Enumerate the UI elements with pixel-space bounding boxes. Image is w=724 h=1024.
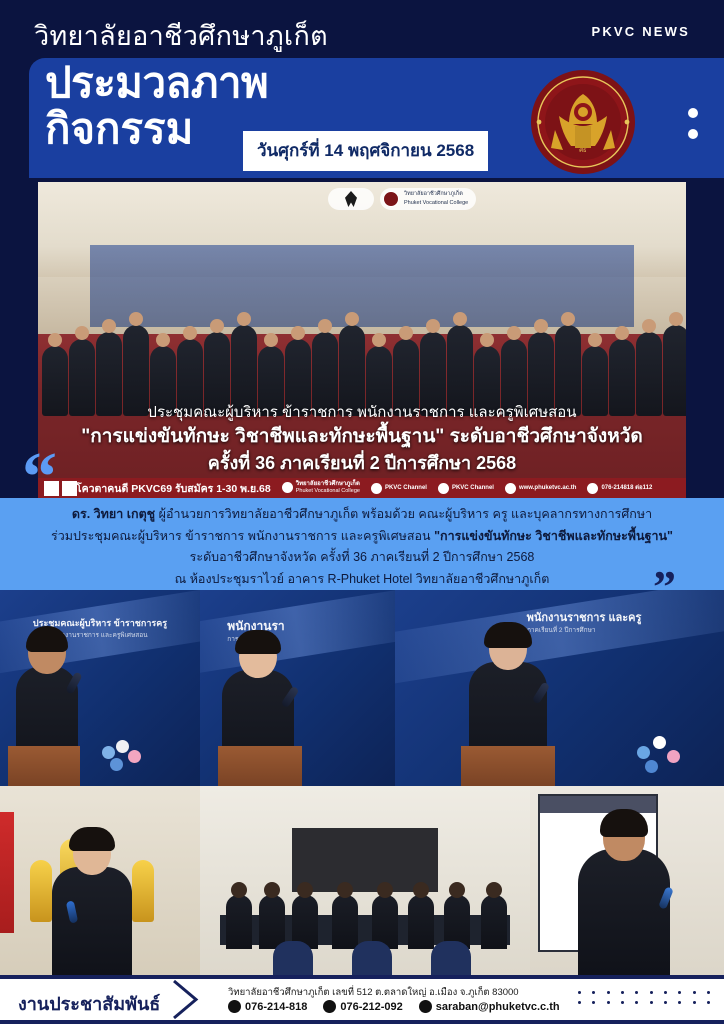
screen-sub-3: ภาคเรียนที่ 2 ปีการศึกษา xyxy=(527,626,724,636)
college-seal-icon xyxy=(383,191,399,207)
description-line-2: ร่วมประชุมคณะผู้บริหาร ข้าราชการ พนักงาน… xyxy=(0,526,724,548)
caption-line-2: "การแข่งขันทักษะ วิชาชีพและทักษะพื้นฐาน"… xyxy=(64,424,660,451)
thai-flag xyxy=(0,812,14,933)
watermark-thai: วิทยาลัยอาชีวศึกษาภูเก็ต xyxy=(404,191,463,197)
qr-code-2 xyxy=(62,481,77,496)
chevron-right-icon xyxy=(172,979,218,1020)
youtube-icon xyxy=(438,483,449,494)
event-name: "การแข่งขันทักษะ วิชาชีพและทักษะพื้นฐาน" xyxy=(434,529,673,543)
tiktok-label: PKVC Channel xyxy=(385,485,427,491)
dot-2 xyxy=(688,129,698,139)
social-tiktok[interactable]: PKVC Channel xyxy=(371,483,427,494)
footer-phone-value: 076-214-818 xyxy=(245,1001,307,1013)
website-icon xyxy=(505,483,516,494)
photo-speaker-masked-woman: พนักงานรา การแข่งขัน xyxy=(200,590,395,786)
gold-ornament-3 xyxy=(132,860,154,922)
speaker-figure xyxy=(52,867,132,975)
director-name: ดร. วิทยา เกตุชู xyxy=(72,507,155,521)
facebook-label-en: Phuket Vocational College xyxy=(296,488,360,494)
svg-text:ศธ: ศธ xyxy=(579,147,587,154)
phone-icon xyxy=(228,1000,241,1013)
youtube-label: PKVC Channel xyxy=(452,485,494,491)
description-line-3: ระดับอาชีวศึกษาจังหวัด ครั้งที่ 36 ภาคเร… xyxy=(0,547,724,569)
speaker-figure xyxy=(578,849,670,975)
fax-icon xyxy=(323,1000,336,1013)
photo-speaker-male-podium: ประชุมคณะผู้บริหาร ข้าราชการครู พนักงานร… xyxy=(0,590,200,786)
photo-speaker-woman-podium: พนักงานราชการ และครู ภาคเรียนที่ 2 ปีการ… xyxy=(395,590,724,786)
footer-fax[interactable]: 076-212-092 xyxy=(323,1000,402,1013)
wall-board xyxy=(292,828,437,892)
caption-line-1: ประชุมคณะผู้บริหาร ข้าราชการ พนักงานราชก… xyxy=(64,402,660,424)
footer-address: วิทยาลัยอาชีวศึกษาภูเก็ต เลขที่ 512 ต.ตล… xyxy=(228,985,519,1000)
facebook-label-thai: วิทยาลัยอาชีวศึกษาภูเก็ต xyxy=(296,481,360,487)
caption-line-3: ครั้งที่ 36 ภาคเรียนที่ 2 ปีการศึกษา 256… xyxy=(64,451,660,476)
footer-fax-value: 076-212-092 xyxy=(340,1001,402,1013)
footer-contacts: 076-214-818 076-212-092 saraban@phuketvc… xyxy=(228,1000,569,1013)
gallery-row-1: ประชุมคณะผู้บริหาร ข้าราชการครู พนักงานร… xyxy=(0,590,724,786)
pr-department-label: งานประชาสัมพันธ์ xyxy=(18,989,160,1018)
phone-label: 076-214818 ต่อ112 xyxy=(601,485,652,491)
flower-arrangement xyxy=(98,738,152,780)
promo-text: โควตาคนดี PKVC69 รับสมัคร 1-30 พ.ย.68 xyxy=(76,480,271,497)
email-icon xyxy=(419,1000,432,1013)
gallery-row-2 xyxy=(0,786,724,975)
page-title-line2: กิจกรรม xyxy=(45,108,193,150)
description-line-4: ณ ห้องประชุมราไวย์ อาคาร R-Phuket Hotel … xyxy=(0,569,724,591)
mourning-ribbon-icon xyxy=(328,188,374,210)
podium xyxy=(218,746,302,786)
photo-caption: ประชุมคณะผู้บริหาร ข้าราชการ พนักงานราชก… xyxy=(38,402,686,476)
website-label: www.phuketvc.ac.th xyxy=(519,485,576,491)
footer-dot-pattern xyxy=(578,991,710,1011)
footer-top-rule xyxy=(0,975,724,979)
dot-row-2 xyxy=(578,1001,710,1004)
dot-row-1 xyxy=(578,991,710,994)
college-name: วิทยาลัยอาชีวศึกษาภูเก็ต xyxy=(34,14,328,57)
date-badge: วันศุกร์ที่ 14 พฤศจิกายน 2568 xyxy=(243,131,488,171)
description-line-1: ดร. วิทยา เกตุชู ผู้อำนวยการวิทยาลัยอาชี… xyxy=(0,504,724,526)
description-line-1-rest: ผู้อำนวยการวิทยาลัยอาชีวศึกษาภูเก็ต พร้อ… xyxy=(155,507,652,521)
description-line-2-pre: ร่วมประชุมคณะผู้บริหาร ข้าราชการ พนักงาน… xyxy=(51,529,434,543)
flower-arrangement xyxy=(635,736,689,778)
social-phone[interactable]: 076-214818 ต่อ112 xyxy=(587,483,652,494)
news-poster: วิทยาลัยอาชีวศึกษาภูเก็ต PKVC NEWS ประมว… xyxy=(0,0,724,1024)
podium xyxy=(461,746,555,786)
social-website[interactable]: www.phuketvc.ac.th xyxy=(505,483,576,494)
meeting-room-background xyxy=(200,786,530,975)
photo-group-people xyxy=(38,289,686,415)
brand-label: PKVC NEWS xyxy=(591,24,690,39)
footer-phone[interactable]: 076-214-818 xyxy=(228,1000,307,1013)
social-bar: โควตาคนดี PKVC69 รับสมัคร 1-30 พ.ย.68 วิ… xyxy=(38,478,686,498)
watermark-english: Phuket Vocational College xyxy=(404,200,468,206)
social-facebook[interactable]: วิทยาลัยอาชีวศึกษาภูเก็ตPhuket Vocationa… xyxy=(282,481,360,494)
footer-email[interactable]: saraban@phuketvc.c.th xyxy=(419,1000,560,1013)
dot-1 xyxy=(688,108,698,118)
phone-icon xyxy=(587,483,598,494)
photo-gallery: ประชุมคณะผู้บริหาร ข้าราชการครู พนักงานร… xyxy=(0,590,724,975)
social-youtube[interactable]: PKVC Channel xyxy=(438,483,494,494)
tiktok-icon xyxy=(371,483,382,494)
photo-meeting-room-audience xyxy=(200,786,530,975)
podium xyxy=(8,746,80,786)
quote-close-icon: ” xyxy=(653,564,676,610)
page-title-line1: ประมวลภาพ xyxy=(45,62,268,103)
photo-speaker-man-monitor xyxy=(530,786,724,975)
facebook-icon xyxy=(282,482,293,493)
photo-speaker-woman-altar xyxy=(0,786,200,975)
footer: งานประชาสัมพันธ์ วิทยาลัยอาชีวศึกษาภูเก็… xyxy=(0,975,724,1024)
screen-title-3: พนักงานราชการ และครู xyxy=(527,612,642,624)
footer-email-value: saraban@phuketvc.c.th xyxy=(436,1001,560,1013)
footer-bottom-rule xyxy=(0,1020,724,1024)
watermark-logo: วิทยาลัยอาชีวศึกษาภูเก็ต Phuket Vocation… xyxy=(380,188,476,210)
screen-toolbar xyxy=(540,796,656,813)
description-block: ดร. วิทยา เกตุชู ผู้อำนวยการวิทยาลัยอาชี… xyxy=(0,498,724,592)
dots-menu[interactable] xyxy=(688,108,698,150)
gold-ornament-1 xyxy=(30,860,52,922)
main-photo: วิทยาลัยอาชีวศึกษาภูเก็ต Phuket Vocation… xyxy=(38,182,686,498)
quote-open-icon: “ xyxy=(22,443,57,513)
screen-text-3: พนักงานราชการ และครู ภาคเรียนที่ 2 ปีการ… xyxy=(527,610,724,636)
vec-seal-icon: ศธ xyxy=(529,68,637,176)
